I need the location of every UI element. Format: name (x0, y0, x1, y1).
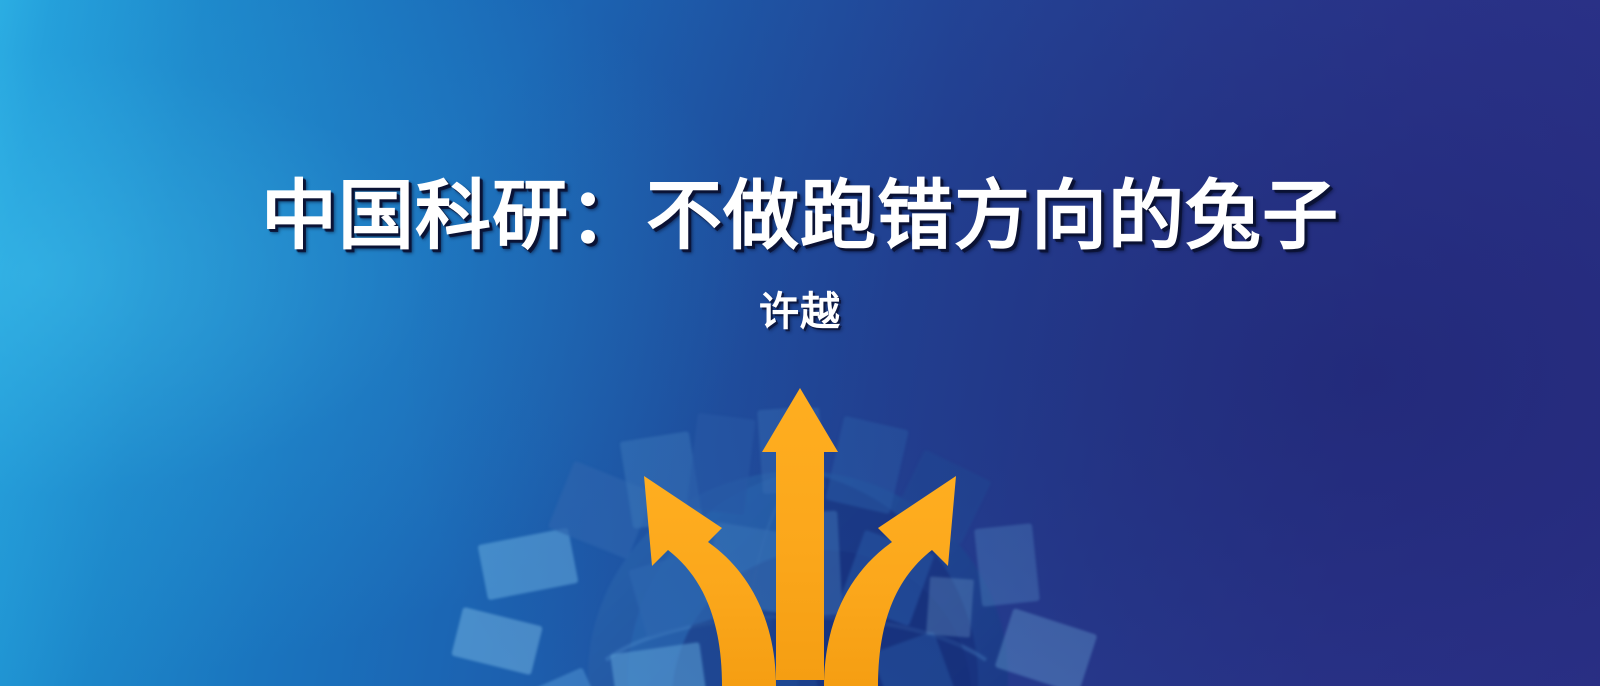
arrow-left-shape (644, 476, 776, 686)
arrow-right-shape (824, 476, 956, 686)
slide-title: 中国科研：不做跑错方向的兔子 (0, 178, 1600, 254)
presentation-slide: 中国科研：不做跑错方向的兔子 许越 (0, 0, 1600, 686)
arrow-up-shape (762, 388, 838, 680)
slide-subtitle-author: 许越 (0, 292, 1600, 332)
three-way-arrow-icon (600, 380, 1000, 686)
